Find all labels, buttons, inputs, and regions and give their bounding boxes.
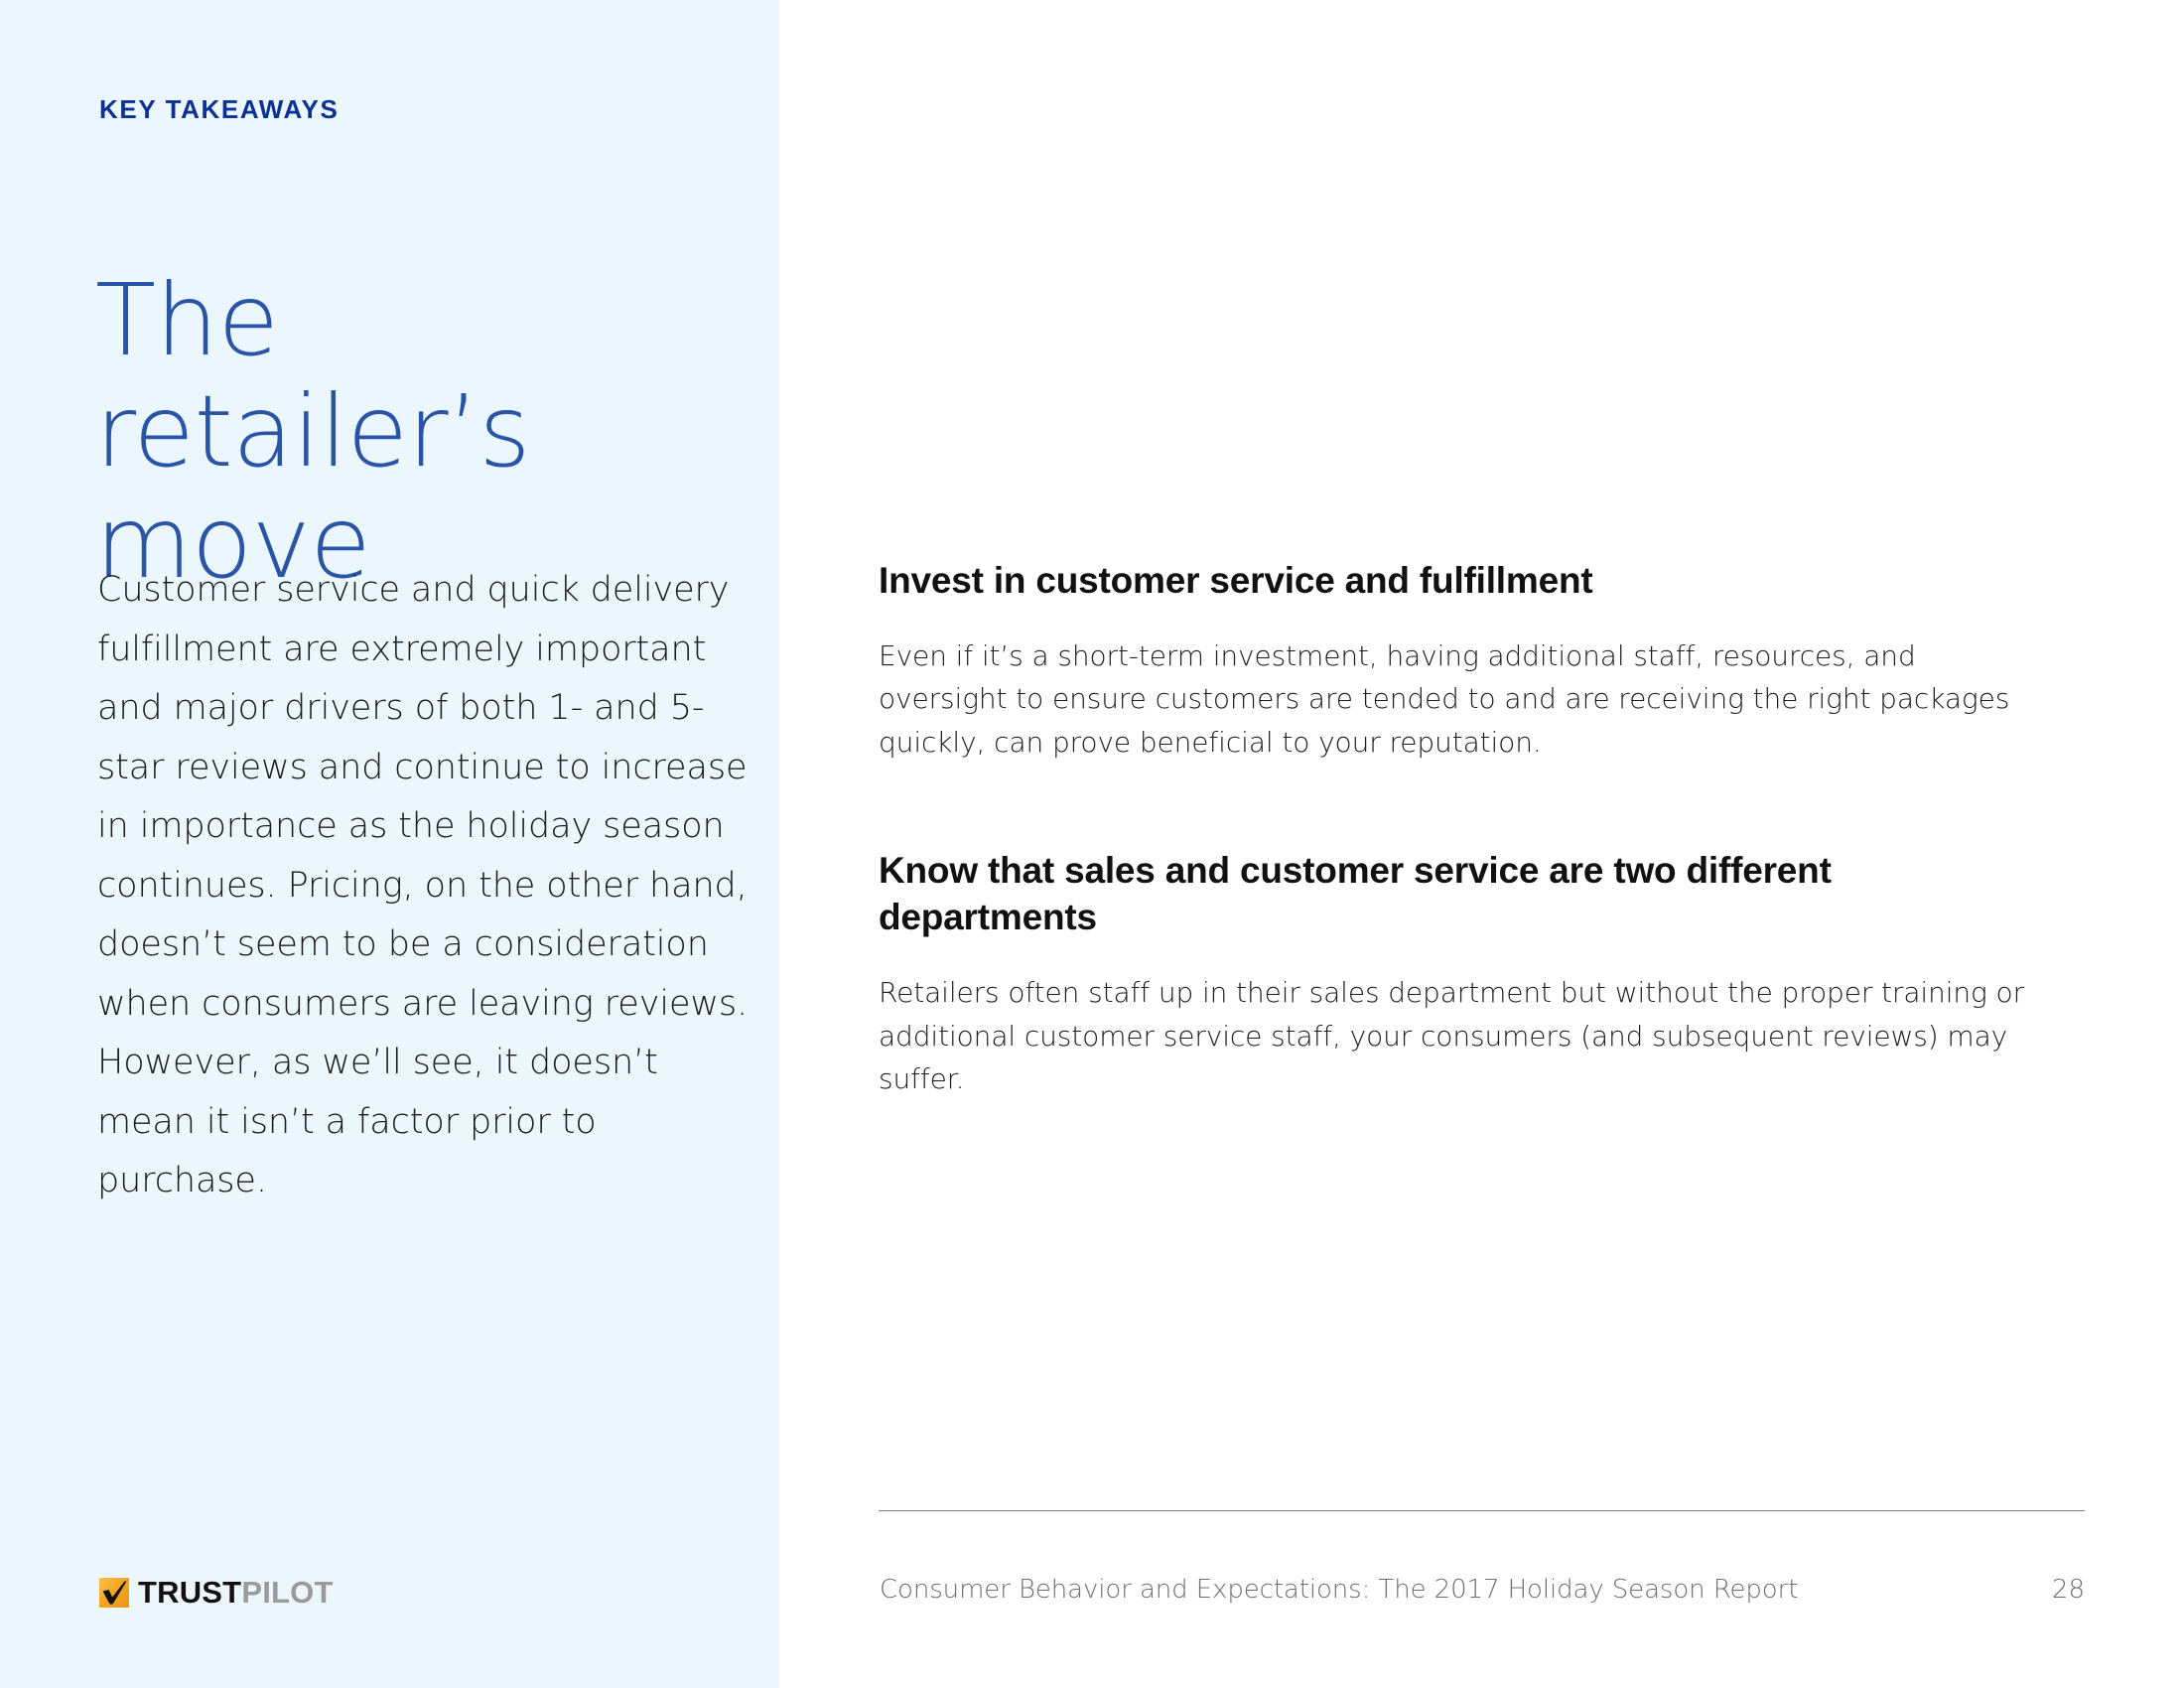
section-eyebrow: KEY TAKEAWAYS [99, 94, 339, 125]
page-title: The retailer’s move [95, 265, 731, 599]
takeaway-body: Even if it’s a short-term investment, ha… [879, 634, 2050, 765]
takeaway-section-departments: Know that sales and customer service are… [879, 816, 2050, 1129]
footer-report-title: Consumer Behavior and Expectations: The … [880, 1575, 1798, 1605]
takeaway-body: Retailers often staff up in their sales … [879, 971, 2050, 1101]
report-page: KEY TAKEAWAYS The retailer’s move Custom… [0, 0, 2184, 1688]
left-summary-paragraph: Customer service and quick delivery fulf… [97, 561, 752, 1211]
trustpilot-logo: TRUSTPILOT [99, 1577, 334, 1608]
logo-word-trust: TRUST [138, 1575, 241, 1610]
logo-word-pilot: PILOT [241, 1575, 333, 1610]
takeaway-heading: Know that sales and customer service are… [879, 847, 2050, 941]
takeaway-heading: Invest in customer service and fulfillme… [879, 557, 2050, 604]
left-highlight-panel: KEY TAKEAWAYS The retailer’s move Custom… [0, 0, 779, 1688]
footer-divider [879, 1510, 2085, 1511]
right-content-column: Invest in customer service and fulfillme… [879, 0, 2085, 1688]
page-number: 28 [2025, 1575, 2085, 1605]
takeaway-section-invest: Invest in customer service and fulfillme… [879, 526, 2050, 792]
logo-wordmark: TRUSTPILOT [138, 1577, 334, 1608]
trustpilot-check-icon [99, 1578, 129, 1608]
